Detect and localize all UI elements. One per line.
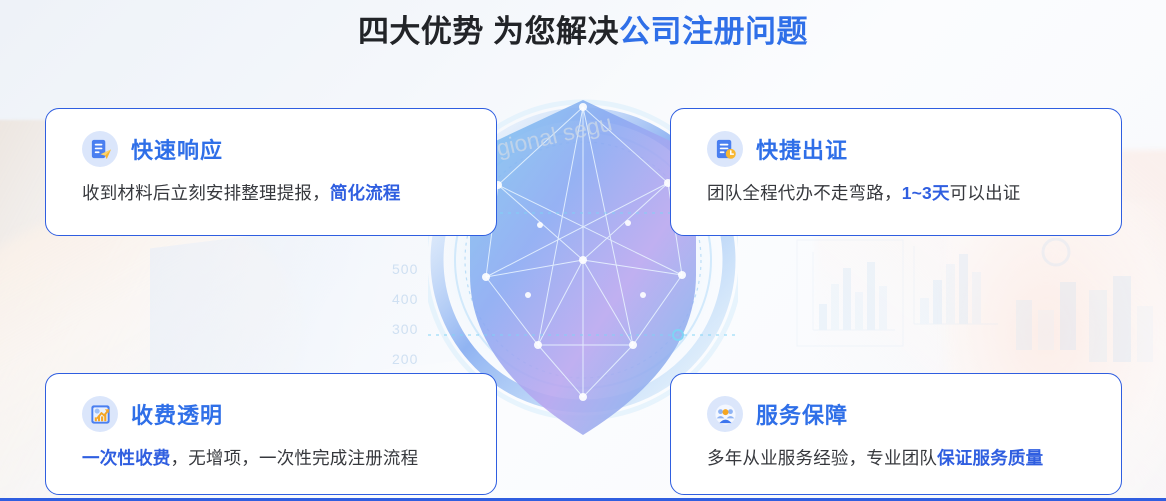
document-clock-icon (707, 131, 743, 167)
document-send-icon (82, 131, 118, 167)
card-description-highlight: 一次性收费 (82, 448, 171, 468)
card-title: 快速响应 (131, 133, 223, 165)
advantage-card-grid: 快速响应 收到材料后立刻安排整理提报，简化流程 快捷出证 团队全程代办不走弯路，… (0, 0, 1166, 501)
card-description-highlight: 简化流程 (330, 183, 401, 203)
card-description: 一次性收费，无增项，一次性完成注册流程 (82, 445, 496, 470)
advantage-card-fast-certificate[interactable]: 快捷出证 团队全程代办不走弯路，1~3天可以出证 (670, 108, 1122, 236)
card-description-highlight: 保证服务质量 (937, 448, 1043, 468)
advantage-card-fast-response[interactable]: 快速响应 收到材料后立刻安排整理提报，简化流程 (45, 108, 497, 236)
card-header: 收费透明 (82, 396, 496, 432)
advantage-card-service-guarantee[interactable]: 服务保障 多年从业服务经验，专业团队保证服务质量 (670, 373, 1122, 495)
users-group-icon (707, 396, 743, 432)
card-header: 快捷出证 (707, 131, 1121, 167)
card-title: 服务保障 (756, 398, 848, 430)
card-description: 多年从业服务经验，专业团队保证服务质量 (707, 445, 1121, 470)
card-description-plain: 收到材料后立刻安排整理提报， (82, 183, 330, 203)
card-description-tail: 可以出证 (950, 183, 1021, 203)
card-header: 服务保障 (707, 396, 1121, 432)
card-description-plain: 团队全程代办不走弯路， (707, 183, 902, 203)
card-description-tail: ，无增项，一次性完成注册流程 (171, 448, 419, 468)
card-description-highlight: 1~3天 (902, 183, 950, 203)
card-description-plain: 多年从业服务经验，专业团队 (707, 448, 937, 468)
card-title: 快捷出证 (756, 133, 848, 165)
chart-growth-icon (82, 396, 118, 432)
card-description: 收到材料后立刻安排整理提报，简化流程 (82, 180, 496, 205)
card-title: 收费透明 (131, 398, 223, 430)
card-header: 快速响应 (82, 131, 496, 167)
advantage-card-transparent-fee[interactable]: 收费透明 一次性收费，无增项，一次性完成注册流程 (45, 373, 497, 495)
card-description: 团队全程代办不走弯路，1~3天可以出证 (707, 180, 1121, 205)
